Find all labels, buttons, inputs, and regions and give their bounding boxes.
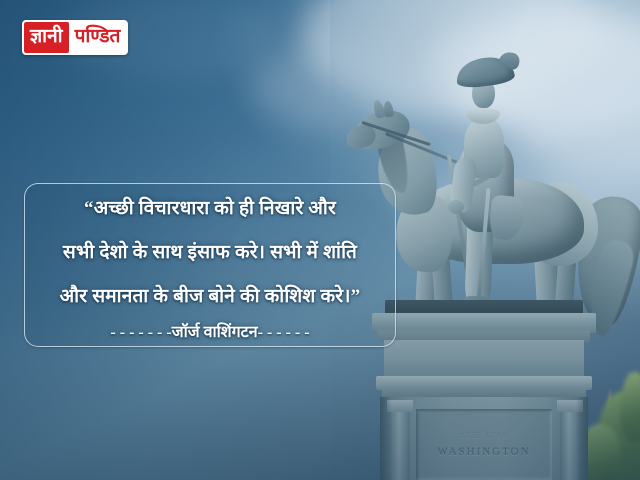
quote-line-1: “अच्छी विचारधारा को ही निखारे और <box>25 194 395 220</box>
quote-box: “अच्छी विचारधारा को ही निखारे और सभी देश… <box>24 183 396 347</box>
quote-line-3: और समानता के बीज बोने की कोशिश करे।” <box>25 282 395 308</box>
quote-attribution: - - - - - - -जॉर्ज वाशिंगटन- - - - - - <box>25 320 395 342</box>
logo-word-pandit: पण्डित <box>69 22 127 53</box>
gyani-pandit-logo[interactable]: ज्ञानी पण्डित <box>22 20 128 55</box>
quote-line-2: सभी देशो के साथ इंसाफ करे। सभी में शांति <box>25 238 395 264</box>
logo-word-gyani: ज्ञानी <box>24 22 69 53</box>
quote-image-canvas: 1732 1799 WASHINGTON ज्ञानी पण्डित “अच्छ… <box>0 0 640 480</box>
